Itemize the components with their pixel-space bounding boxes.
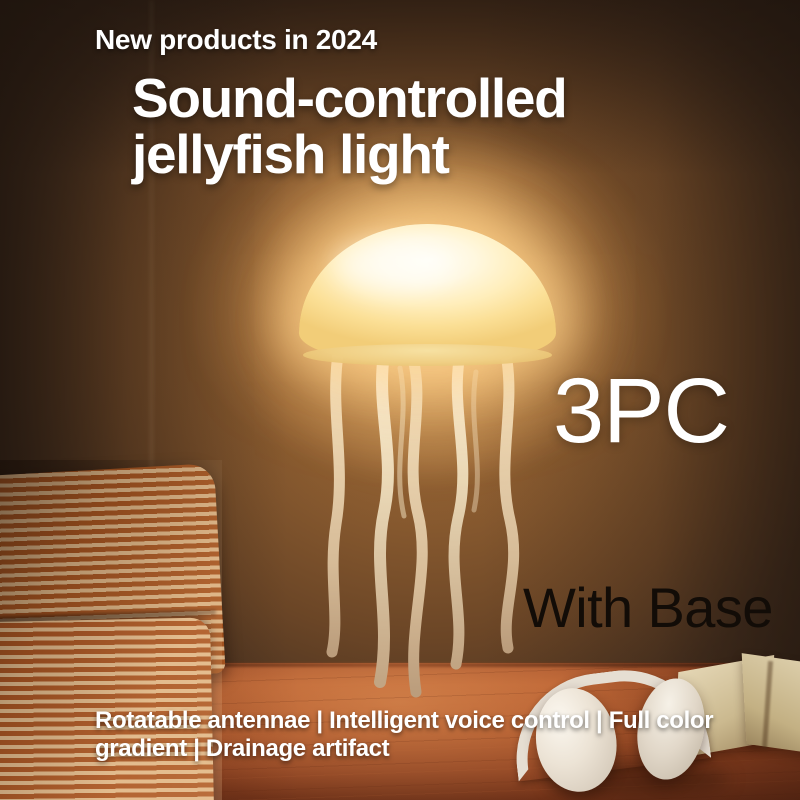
jellyfish-tentacles xyxy=(300,352,560,697)
lamp-highlight xyxy=(335,240,455,292)
headline-line-1: Sound-controlled xyxy=(132,70,566,126)
feature-list-text: Rotatable antennae | Intelligent voice c… xyxy=(95,707,743,763)
eyebrow-text: New products in 2024 xyxy=(95,24,377,56)
quantity-badge: 3PC xyxy=(553,365,729,457)
page-title: Sound-controlled jellyfish light xyxy=(132,70,566,182)
base-included-badge: With Base xyxy=(523,580,773,636)
lamp-dome-lip xyxy=(303,344,552,366)
headline-line-2: jellyfish light xyxy=(132,126,566,182)
product-banner: New products in 2024 Sound-controlled je… xyxy=(0,0,800,800)
